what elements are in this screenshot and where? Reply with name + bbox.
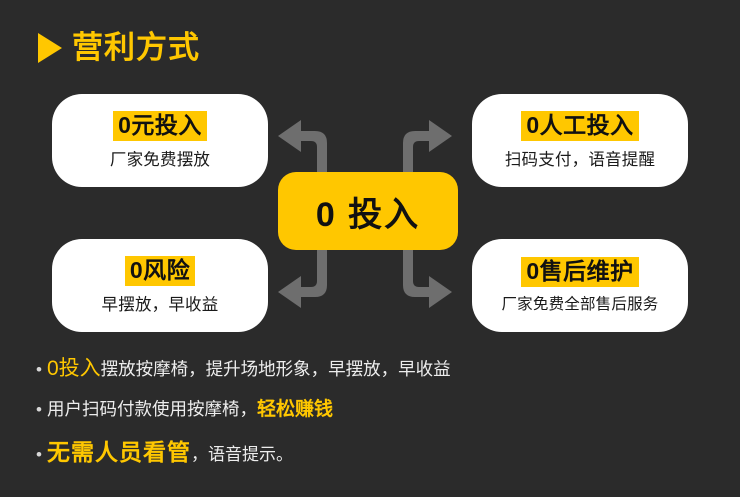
elbow-arrow-down-left-icon bbox=[278, 248, 327, 308]
elbow-arrow-down-right-icon bbox=[403, 248, 452, 308]
bullet-dot-icon: • bbox=[36, 401, 42, 418]
bullet-text: 用户扫码付款使用按摩椅， bbox=[47, 396, 257, 421]
center-badge[interactable]: 0 投入 bbox=[278, 172, 458, 250]
card-top-right[interactable]: 0人工投入 扫码支付，语音提醒 bbox=[472, 94, 688, 187]
bullet-highlight: 轻松赚钱 bbox=[257, 394, 333, 421]
elbow-arrow-up-right-icon bbox=[403, 120, 452, 180]
card-headline: 0元投入 bbox=[113, 111, 207, 141]
bullet-highlight: 无需人员看管 bbox=[47, 433, 191, 467]
list-item: • 无需人员看管 ，语音提示。 bbox=[36, 433, 716, 467]
center-badge-label: 0 投入 bbox=[316, 187, 420, 236]
bullet-dot-icon: • bbox=[36, 361, 42, 378]
card-headline: 0售后维护 bbox=[521, 257, 638, 287]
list-item: • 用户扫码付款使用按摩椅， 轻松赚钱 bbox=[36, 394, 716, 421]
card-subtext: 早摆放，早收益 bbox=[102, 291, 219, 315]
card-headline: 0风险 bbox=[125, 256, 195, 286]
card-headline: 0人工投入 bbox=[521, 111, 638, 141]
card-bottom-left[interactable]: 0风险 早摆放，早收益 bbox=[52, 239, 268, 332]
card-subtext: 厂家免费全部售后服务 bbox=[501, 292, 658, 314]
card-bottom-right[interactable]: 0售后维护 厂家免费全部售后服务 bbox=[472, 239, 688, 332]
card-subtext: 扫码支付，语音提醒 bbox=[505, 146, 655, 170]
slide-canvas: 营利方式 0元投入 厂家免费摆放 0人工投入 扫码支付，语音提醒 0风险 早摆放… bbox=[0, 0, 740, 497]
card-top-left[interactable]: 0元投入 厂家免费摆放 bbox=[52, 94, 268, 187]
bullet-text: ，语音提示。 bbox=[191, 440, 293, 465]
page-title: 营利方式 bbox=[72, 32, 200, 63]
page-header: 营利方式 bbox=[38, 32, 200, 63]
card-subtext: 厂家免费摆放 bbox=[110, 146, 210, 170]
benefit-list: • 0投入 摆放按摩椅，提升场地形象，早摆放，早收益 • 用户扫码付款使用按摩椅… bbox=[36, 352, 716, 479]
bullet-highlight: 0投入 bbox=[47, 352, 101, 382]
play-triangle-icon bbox=[38, 33, 62, 63]
bullet-text: 摆放按摩椅，提升场地形象，早摆放，早收益 bbox=[101, 356, 451, 381]
list-item: • 0投入 摆放按摩椅，提升场地形象，早摆放，早收益 bbox=[36, 352, 716, 382]
bullet-dot-icon: • bbox=[36, 446, 42, 463]
elbow-arrow-up-left-icon bbox=[278, 120, 327, 180]
